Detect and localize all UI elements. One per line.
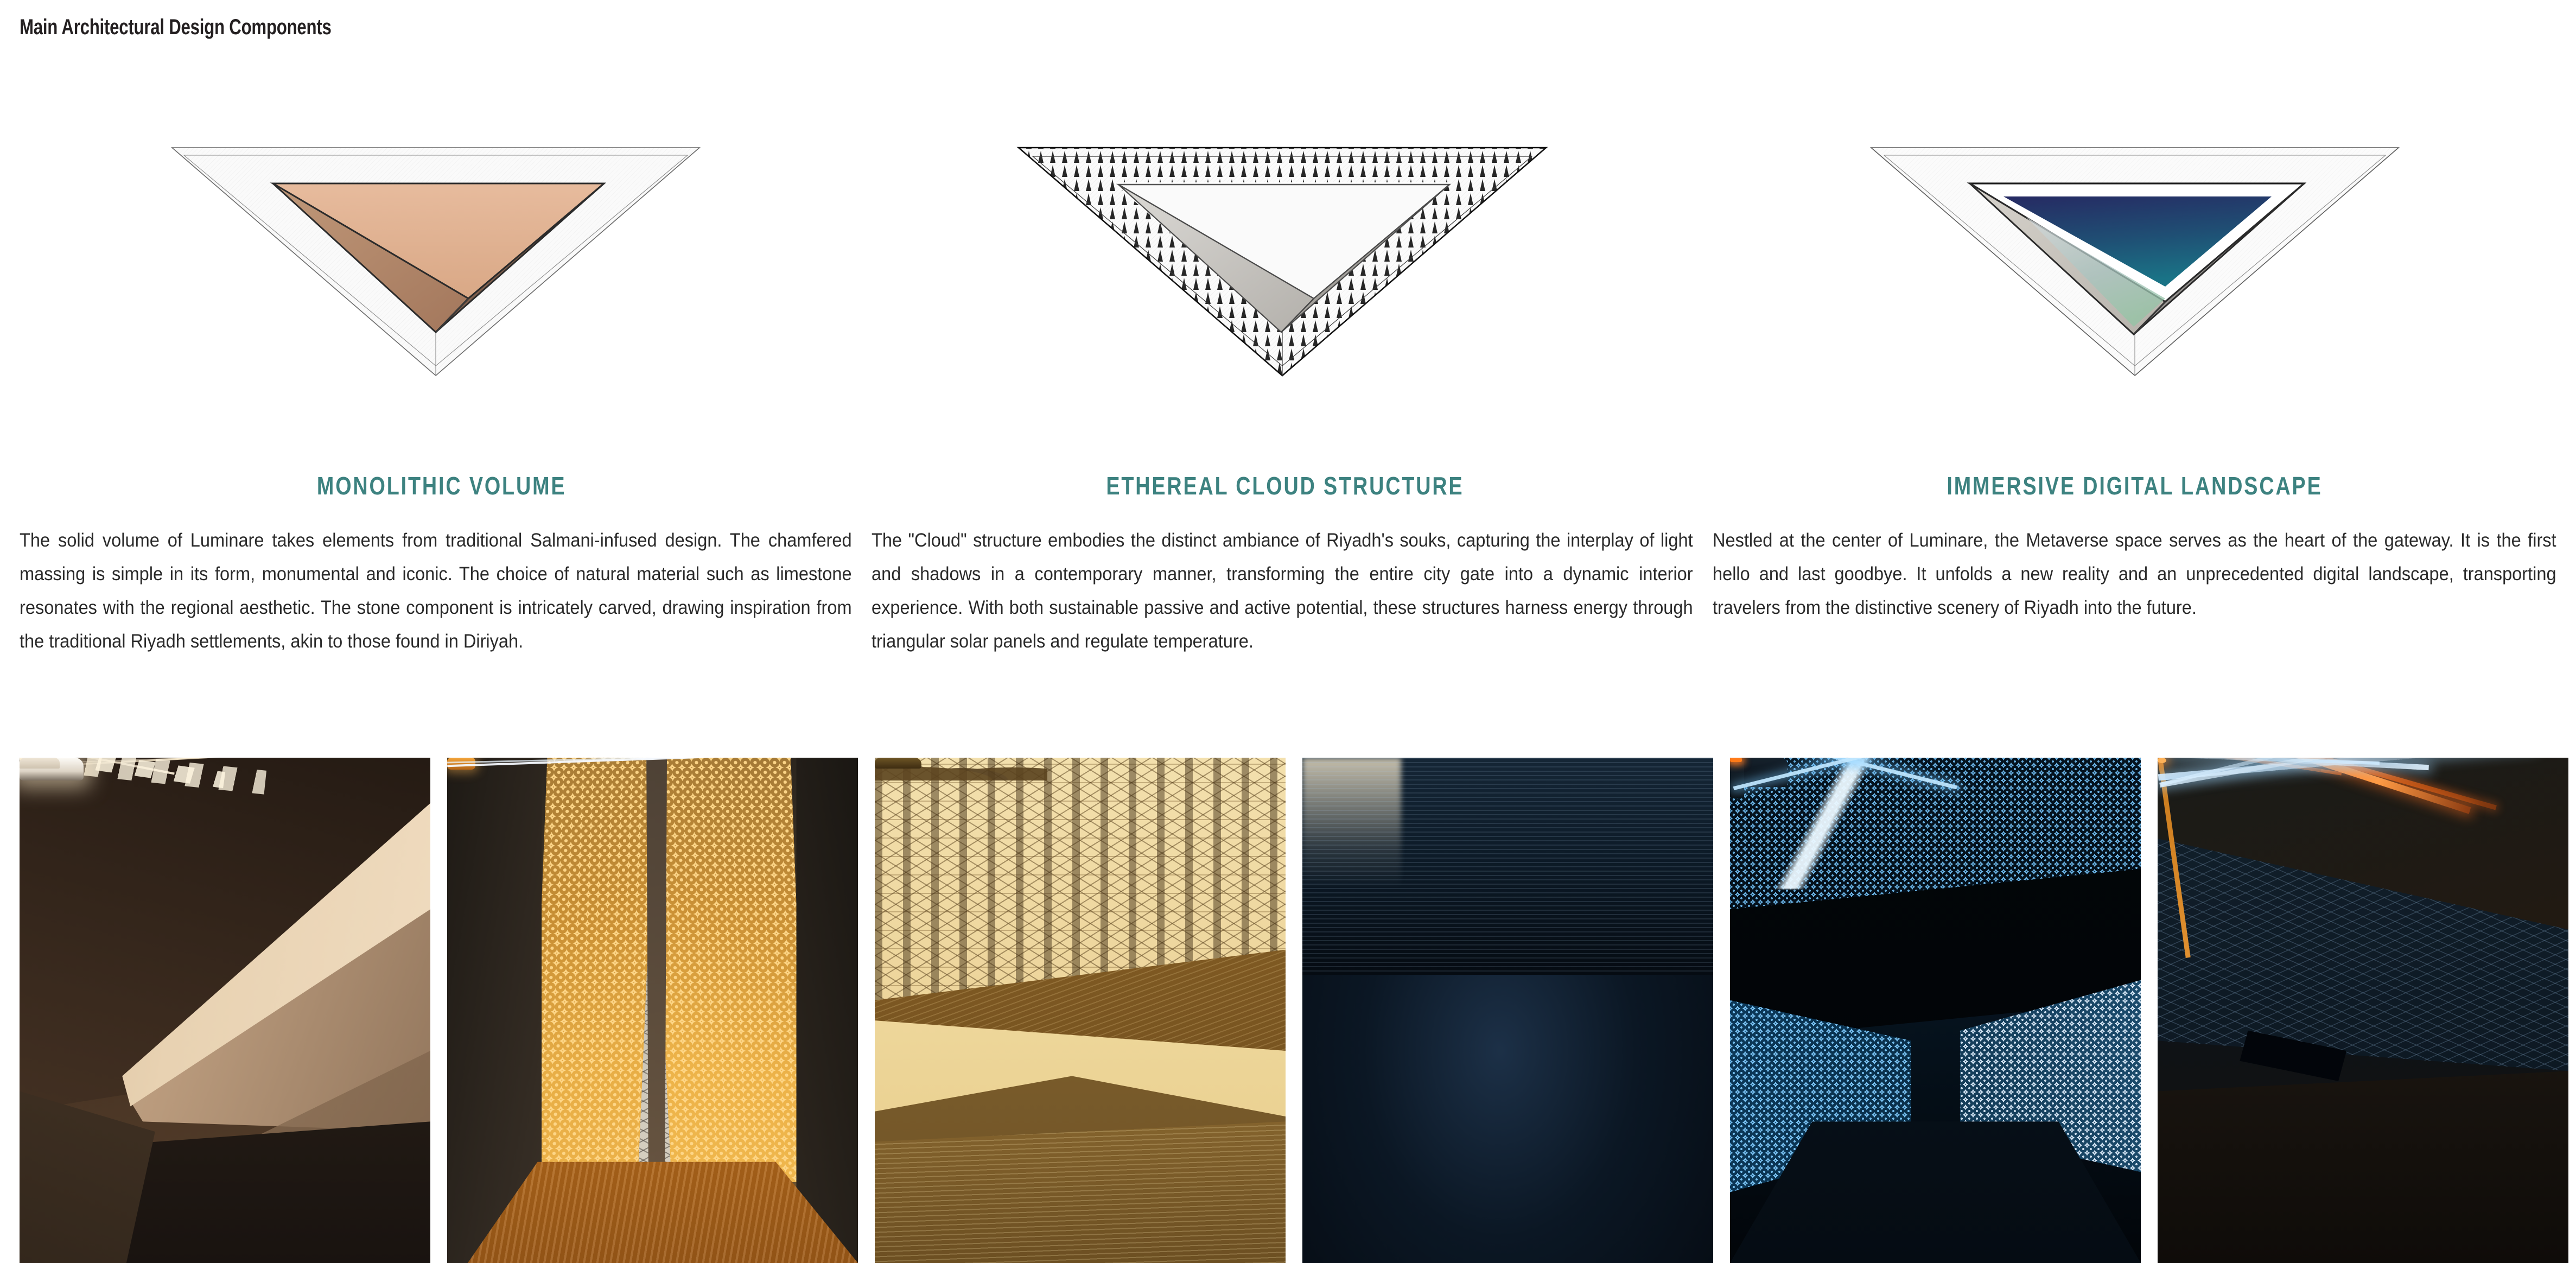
- white-car-roof: [20, 758, 60, 769]
- component-heading-ethereal-cloud-structure: ETHEREAL CLOUD STRUCTURE: [945, 473, 1619, 498]
- component-body-immersive-digital-landscape: Nestled at the center of Luminare, the M…: [1713, 524, 2556, 625]
- gallery-image-golden-lattice-canopy-sunset-render: [875, 758, 1286, 1263]
- pedestrian-silhouette-right: [1730, 758, 1744, 798]
- passing-car: [875, 758, 921, 769]
- gallery-image-dark-highway-light-trails-render: [2158, 758, 2568, 1263]
- render-gallery: [20, 758, 2576, 1263]
- gallery-image-golden-perforated-screen-road-render: [447, 758, 858, 1263]
- component-body-ethereal-cloud-structure: The "Cloud" structure embodies the disti…: [872, 524, 1693, 658]
- component-column-immersive-digital-landscape: IMMERSIVE DIGITAL LANDSCAPE Nestled at t…: [1713, 136, 2576, 658]
- water-ripples-night: [1302, 758, 1713, 975]
- page-title: Main Architectural Design Components: [20, 15, 332, 40]
- component-column-ethereal-cloud-structure: ETHEREAL CLOUD STRUCTURE The "Cloud" str…: [872, 136, 1713, 658]
- gallery-image-illuminated-structure-night-water-render: [1302, 758, 1713, 1263]
- diagram-immersive-digital-landscape: [1713, 136, 2556, 440]
- component-body-monolithic-volume: The solid volume of Luminare takes eleme…: [20, 524, 852, 658]
- gallery-image-stone-tunnel-with-car-render: [20, 758, 430, 1263]
- components-grid: MONOLITHIC VOLUME The solid volume of Lu…: [0, 136, 2576, 658]
- orange-light-spark: [2158, 758, 2166, 763]
- diagram-monolithic-volume: [20, 136, 852, 440]
- diagram-ethereal-cloud-structure: [872, 136, 1693, 440]
- gallery-image-blue-led-interior-pedestrians-render: [1730, 758, 2141, 1263]
- component-column-monolithic-volume: MONOLITHIC VOLUME The solid volume of Lu…: [0, 136, 872, 658]
- inverted-tetrahedron-stone-svg: [164, 136, 707, 385]
- inverted-tetrahedron-cloud-svg: [1011, 136, 1554, 385]
- inverted-tetrahedron-metaverse-svg: [1863, 136, 2406, 385]
- component-heading-immersive-digital-landscape: IMMERSIVE DIGITAL LANDSCAPE: [1789, 473, 2480, 498]
- component-heading-monolithic-volume: MONOLITHIC VOLUME: [94, 473, 777, 498]
- car-taillight-right: [1730, 758, 1742, 762]
